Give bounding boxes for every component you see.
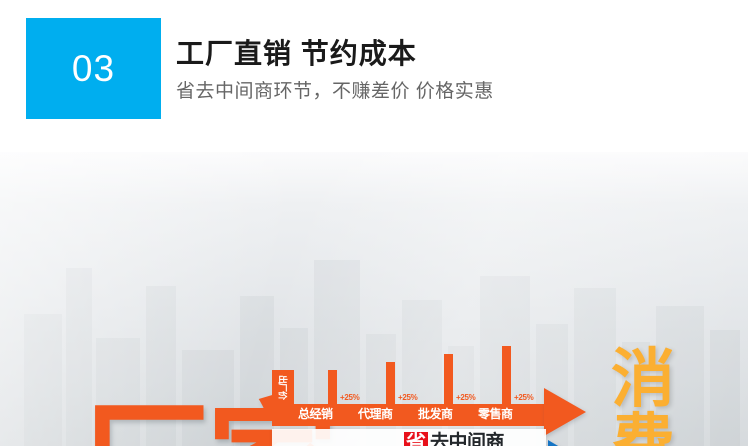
markup-label-2: +25% (398, 393, 417, 402)
distribution-chain: 出厂价 +25% +25% +25% +25% 总经销 代理商 批发商 零售商 (272, 346, 572, 426)
chain-label-1: 总经销 (298, 405, 333, 422)
page-title: 工厂直销 节约成本 (176, 36, 736, 71)
header-text-block: 工厂直销 节约成本 省去中间商环节，不赚差价 价格实惠 (176, 36, 736, 105)
ex-factory-price-text: 出厂价 (277, 375, 290, 399)
chain-label-2: 代理商 (358, 405, 393, 422)
section-number-text: 03 (72, 50, 115, 87)
ex-factory-price-tag: 出厂价 (272, 370, 294, 404)
markup-label-4: +25% (514, 393, 533, 402)
chain-bar-3 (444, 354, 453, 404)
markup-label-3: +25% (456, 393, 475, 402)
consumer-word: 消费者 (594, 348, 692, 446)
section-number-badge: 03 (26, 18, 161, 119)
markup-label-1: +25% (340, 393, 359, 402)
page-subtitle: 省去中间商环节，不赚差价 价格实惠 (176, 80, 736, 105)
illustration-banner: 厂家 出厂价 +25% +25% +25% +25% 总经销 代理商 批发商 零… (0, 152, 748, 446)
chain-bar-4 (502, 346, 511, 404)
chain-bar-1 (328, 370, 337, 404)
chain-label-3: 批发商 (418, 405, 453, 422)
promo-page: 03 工厂直销 节约成本 省去中间商环节，不赚差价 价格实惠 (0, 0, 748, 446)
chain-bar-2 (386, 362, 395, 404)
traditional-channel-arrow-icon (544, 388, 586, 436)
section-header: 03 工厂直销 节约成本 省去中间商环节，不赚差价 价格实惠 (0, 0, 748, 150)
chain-label-4: 零售商 (478, 405, 513, 422)
